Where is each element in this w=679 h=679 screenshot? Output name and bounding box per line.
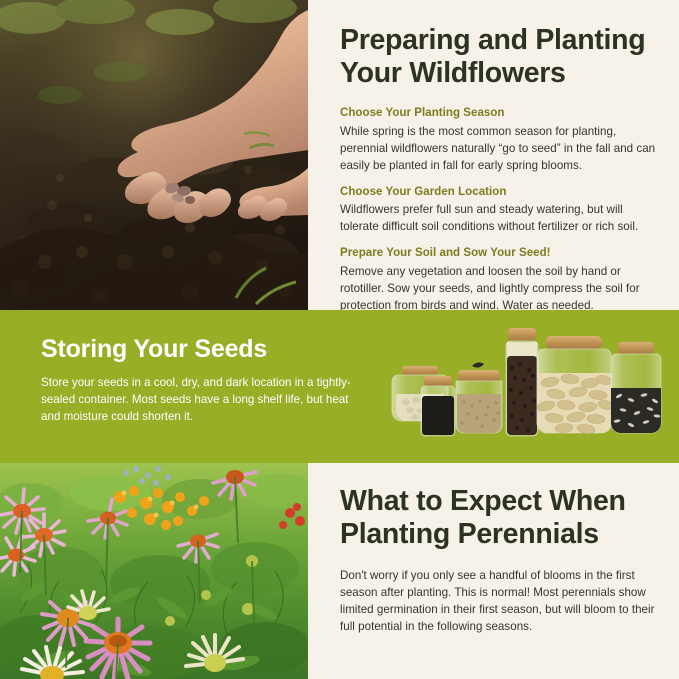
heading-what-to-expect: What to Expect When Planting Perennials <box>340 463 660 551</box>
body-garden-location: Wildflowers prefer full sun and steady w… <box>340 201 660 235</box>
jar-brown-grain <box>456 362 502 433</box>
section-storing-your-seeds: Storing Your Seeds Store your seeds in a… <box>0 310 679 463</box>
photo-hands-sowing-seeds <box>0 0 308 310</box>
body-what-to-expect: Don't worry if you only see a handful of… <box>340 567 660 635</box>
info-block-garden-location: Choose Your Garden Location Wildflowers … <box>340 185 660 236</box>
wildflower-meadow-illustration <box>0 463 308 679</box>
body-planting-season: While spring is the most common season f… <box>340 123 660 174</box>
soil-photo-illustration <box>0 0 308 310</box>
section-preparing-planting: Preparing and Planting Your Wildflowers … <box>0 0 679 310</box>
subheading-planting-season: Choose Your Planting Season <box>340 106 660 122</box>
body-storing-seeds: Store your seeds in a cool, dry, and dar… <box>41 374 351 425</box>
jar-pumpkin-seeds <box>536 336 615 435</box>
subheading-garden-location: Choose Your Garden Location <box>340 185 660 201</box>
body-prepare-soil: Remove any vegetation and loosen the soi… <box>340 263 660 314</box>
top-text-column: Preparing and Planting Your Wildflowers … <box>340 0 660 310</box>
infographic-root: Preparing and Planting Your Wildflowers … <box>0 0 679 679</box>
info-block-prepare-soil: Prepare Your Soil and Sow Your Seed! Rem… <box>340 246 660 314</box>
jar-tall-dark-seeds <box>506 328 538 436</box>
subheading-prepare-soil: Prepare Your Soil and Sow Your Seed! <box>340 246 660 262</box>
heading-storing-seeds: Storing Your Seeds <box>41 336 351 364</box>
jar-black-seeds <box>421 376 455 436</box>
bottom-text-column: What to Expect When Planting Perennials … <box>340 463 660 635</box>
seed-jars-illustration <box>388 318 668 458</box>
photo-seed-jars <box>388 318 668 458</box>
jar-sunflower-seeds <box>611 342 661 433</box>
page-title-preparing: Preparing and Planting Your Wildflowers <box>340 0 660 90</box>
green-text-column: Storing Your Seeds Store your seeds in a… <box>41 336 351 425</box>
info-block-planting-season: Choose Your Planting Season While spring… <box>340 106 660 174</box>
photo-wildflower-meadow <box>0 463 308 679</box>
